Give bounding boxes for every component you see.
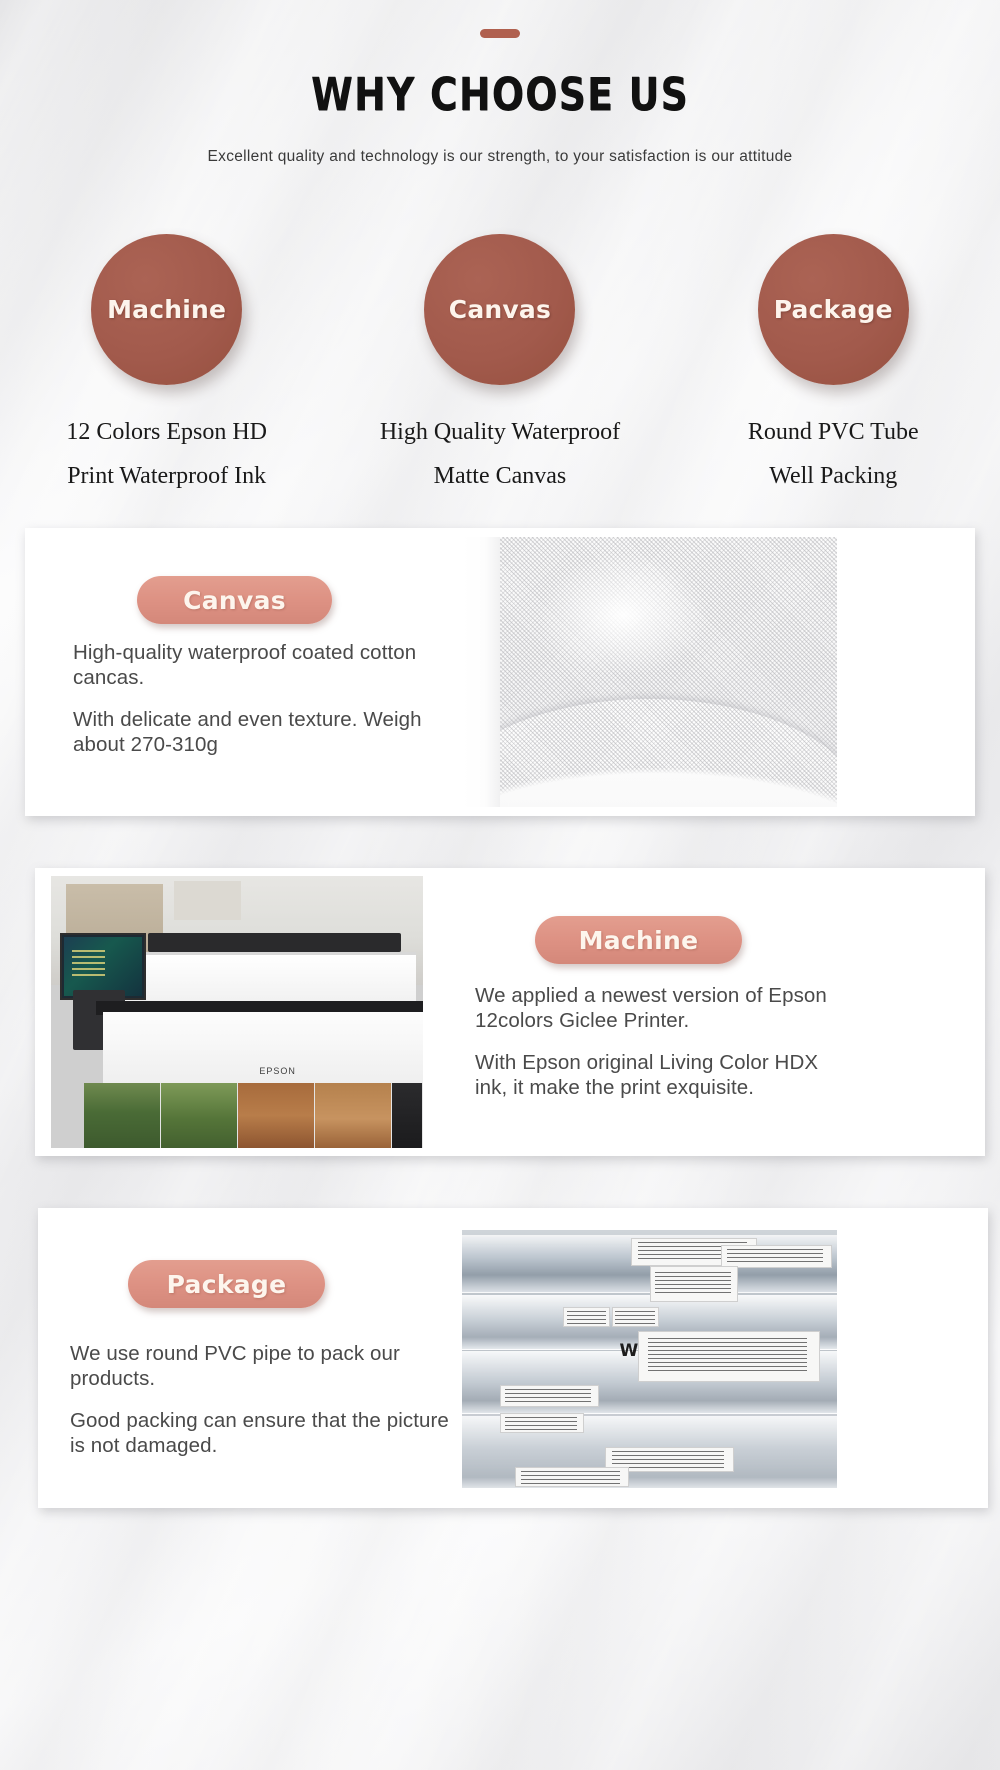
feature-canvas: Canvas High Quality Waterproof Matte Can… [333,234,666,499]
card-package: Package We use round PVC pipe to pack ou… [38,1208,988,1508]
shipping-label [500,1413,585,1433]
canvas-highlight [537,553,710,677]
feature-caption-line-2: Matte Canvas [380,454,620,498]
print-sample [392,1083,423,1148]
card-body-package: We use round PVC pipe to pack our produc… [70,1341,460,1458]
card-paragraph: Good packing can ensure that the picture… [70,1408,460,1458]
card-machine: EPSON Machine We applied a newest versio… [35,868,985,1156]
feature-circle-package: Package [758,234,909,385]
card-paragraph: We applied a newest version of Epson 12c… [475,983,850,1033]
canvas-left-edge [462,537,500,807]
card-body-canvas: High-quality waterproof coated cotton ca… [73,640,443,757]
feature-circle-label: Canvas [449,295,551,324]
feature-circle-label: Package [774,295,893,324]
feature-circle-machine: Machine [91,234,242,385]
print-sample [315,1083,392,1148]
feature-circle-label: Machine [107,295,226,324]
monitor-screen [64,937,142,996]
printed-canvas-samples [84,1083,423,1148]
card-paragraph: We use round PVC pipe to pack our produc… [70,1341,460,1391]
feature-package: Package Round PVC Tube Well Packing [667,234,1000,499]
shipping-label [721,1245,832,1268]
card-photo-machine: EPSON [51,876,423,1148]
shipping-label [650,1266,738,1302]
card-pill-machine: Machine [535,916,742,964]
print-sample [84,1083,161,1148]
card-canvas: Canvas High-quality waterproof coated co… [25,528,975,816]
page-title: WHY CHOOSE US [80,68,920,121]
feature-caption-line-1: 12 Colors Epson HD [66,410,267,454]
feature-caption-line-1: High Quality Waterproof [380,410,620,454]
card-pill-package: Package [128,1260,325,1308]
card-pill-canvas: Canvas [137,576,332,624]
print-sample [238,1083,315,1148]
card-pill-label: Machine [579,926,699,955]
printer-gantry [148,933,401,952]
feature-machine: Machine 12 Colors Epson HD Print Waterpr… [0,234,333,499]
shipping-label [563,1307,610,1327]
shelf-paper-stack [174,881,241,919]
feature-circles-row: Machine 12 Colors Epson HD Print Waterpr… [0,234,1000,499]
card-paragraph: With Epson original Living Color HDX ink… [475,1050,850,1100]
card-photo-package: W [462,1230,837,1488]
header-accent-dash [480,29,520,38]
card-pill-label: Package [167,1270,287,1299]
printer-brand-text: EPSON [259,1066,296,1076]
printer-upper-body [118,952,416,1007]
card-paragraph: High-quality waterproof coated cotton ca… [73,640,443,690]
shipping-label [638,1331,820,1382]
shipping-label [612,1307,659,1327]
page-subtitle: Excellent quality and technology is our … [0,148,1000,166]
card-photo-canvas [462,537,837,807]
label-letter-mark: W [620,1341,639,1361]
print-sample [161,1083,238,1148]
shipping-label [500,1385,600,1408]
feature-caption-line-1: Round PVC Tube [748,410,919,454]
feature-caption-line-2: Print Waterproof Ink [66,454,267,498]
feature-circle-canvas: Canvas [424,234,575,385]
feature-caption-line-2: Well Packing [748,454,919,498]
card-paragraph: With delicate and even texture. Weigh ab… [73,707,443,757]
shipping-label [515,1467,630,1487]
card-body-machine: We applied a newest version of Epson 12c… [475,983,850,1100]
feature-caption-canvas: High Quality Waterproof Matte Canvas [380,410,620,499]
why-choose-us-page: WHY CHOOSE US Excellent quality and tech… [0,0,1000,1770]
card-pill-label: Canvas [183,586,286,615]
feature-caption-machine: 12 Colors Epson HD Print Waterproof Ink [66,410,267,499]
feature-caption-package: Round PVC Tube Well Packing [748,410,919,499]
